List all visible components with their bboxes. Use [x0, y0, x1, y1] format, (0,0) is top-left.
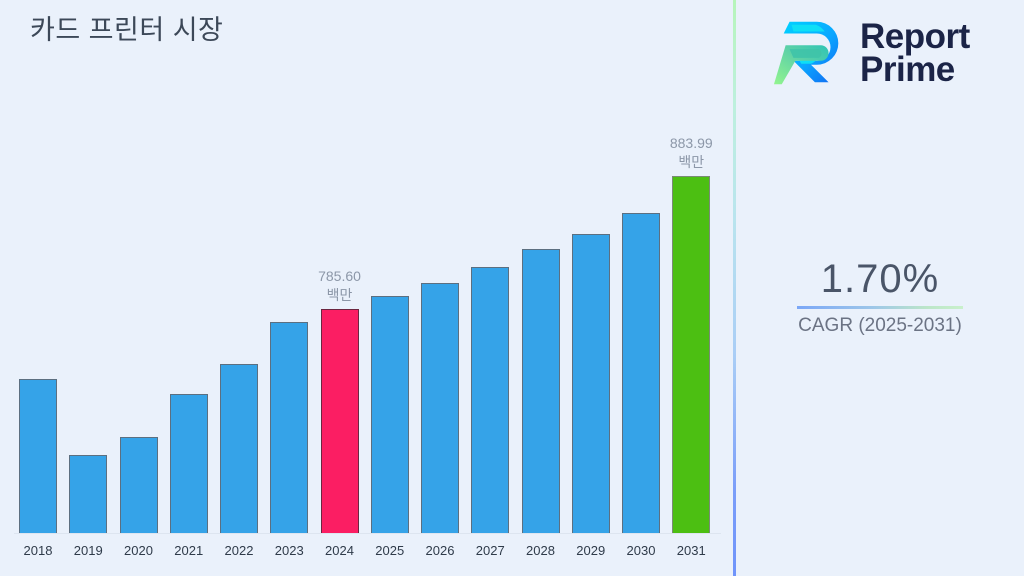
x-tick-2024: 2024 — [321, 543, 359, 558]
bar-2019[interactable] — [69, 455, 107, 533]
x-axis-line — [14, 533, 721, 534]
x-tick-2020: 2020 — [120, 543, 158, 558]
cagr-divider — [797, 306, 963, 309]
x-tick-2018: 2018 — [19, 543, 57, 558]
brand-line-2: Prime — [860, 50, 955, 89]
x-tick-2026: 2026 — [421, 543, 459, 558]
x-tick-2029: 2029 — [572, 543, 610, 558]
bar-chart-plot-area: 201820192020202120222023785.60백만20242025… — [0, 0, 734, 576]
bar-value-label-2031: 883.99백만 — [670, 134, 713, 172]
bar-2025[interactable] — [371, 296, 409, 533]
x-tick-2027: 2027 — [471, 543, 509, 558]
infographic-root: 카드 프린터 시장 201820192020202120222023785.60… — [0, 0, 1024, 576]
x-tick-2025: 2025 — [371, 543, 409, 558]
x-tick-2022: 2022 — [220, 543, 258, 558]
bar-2020[interactable] — [120, 437, 158, 533]
cagr-value: 1.70% — [736, 255, 1024, 303]
bar-2024[interactable] — [321, 309, 359, 533]
report-prime-logo-icon — [772, 14, 850, 92]
bar-2021[interactable] — [170, 394, 208, 533]
brand-logo: Report Prime — [772, 10, 1004, 96]
bar-value-number-2024: 785.60 — [318, 267, 361, 286]
brand-wordmark: Report Prime — [860, 20, 970, 87]
bar-value-label-2024: 785.60백만 — [318, 267, 361, 305]
cagr-block: 1.70% CAGR (2025-2031) — [736, 255, 1024, 337]
x-tick-2023: 2023 — [270, 543, 308, 558]
bar-2030[interactable] — [622, 213, 660, 533]
bar-2029[interactable] — [572, 234, 610, 533]
bar-2028[interactable] — [522, 249, 560, 533]
bar-value-number-2031: 883.99 — [670, 134, 713, 153]
x-tick-2021: 2021 — [170, 543, 208, 558]
bar-2018[interactable] — [19, 379, 57, 533]
info-panel: Report Prime 1.70% CAGR (2025-2031) — [736, 0, 1024, 576]
bar-value-unit-2024: 백만 — [318, 286, 361, 305]
x-tick-2030: 2030 — [622, 543, 660, 558]
bar-2027[interactable] — [471, 267, 509, 533]
bar-2022[interactable] — [220, 364, 258, 533]
bar-2031[interactable] — [672, 176, 710, 533]
x-tick-2028: 2028 — [522, 543, 560, 558]
x-tick-2031: 2031 — [672, 543, 710, 558]
cagr-caption: CAGR (2025-2031) — [736, 315, 1024, 337]
x-tick-2019: 2019 — [69, 543, 107, 558]
bar-2023[interactable] — [270, 322, 308, 533]
bar-2026[interactable] — [421, 283, 459, 533]
chart-panel: 카드 프린터 시장 201820192020202120222023785.60… — [0, 0, 734, 576]
bar-value-unit-2031: 백만 — [670, 153, 713, 172]
